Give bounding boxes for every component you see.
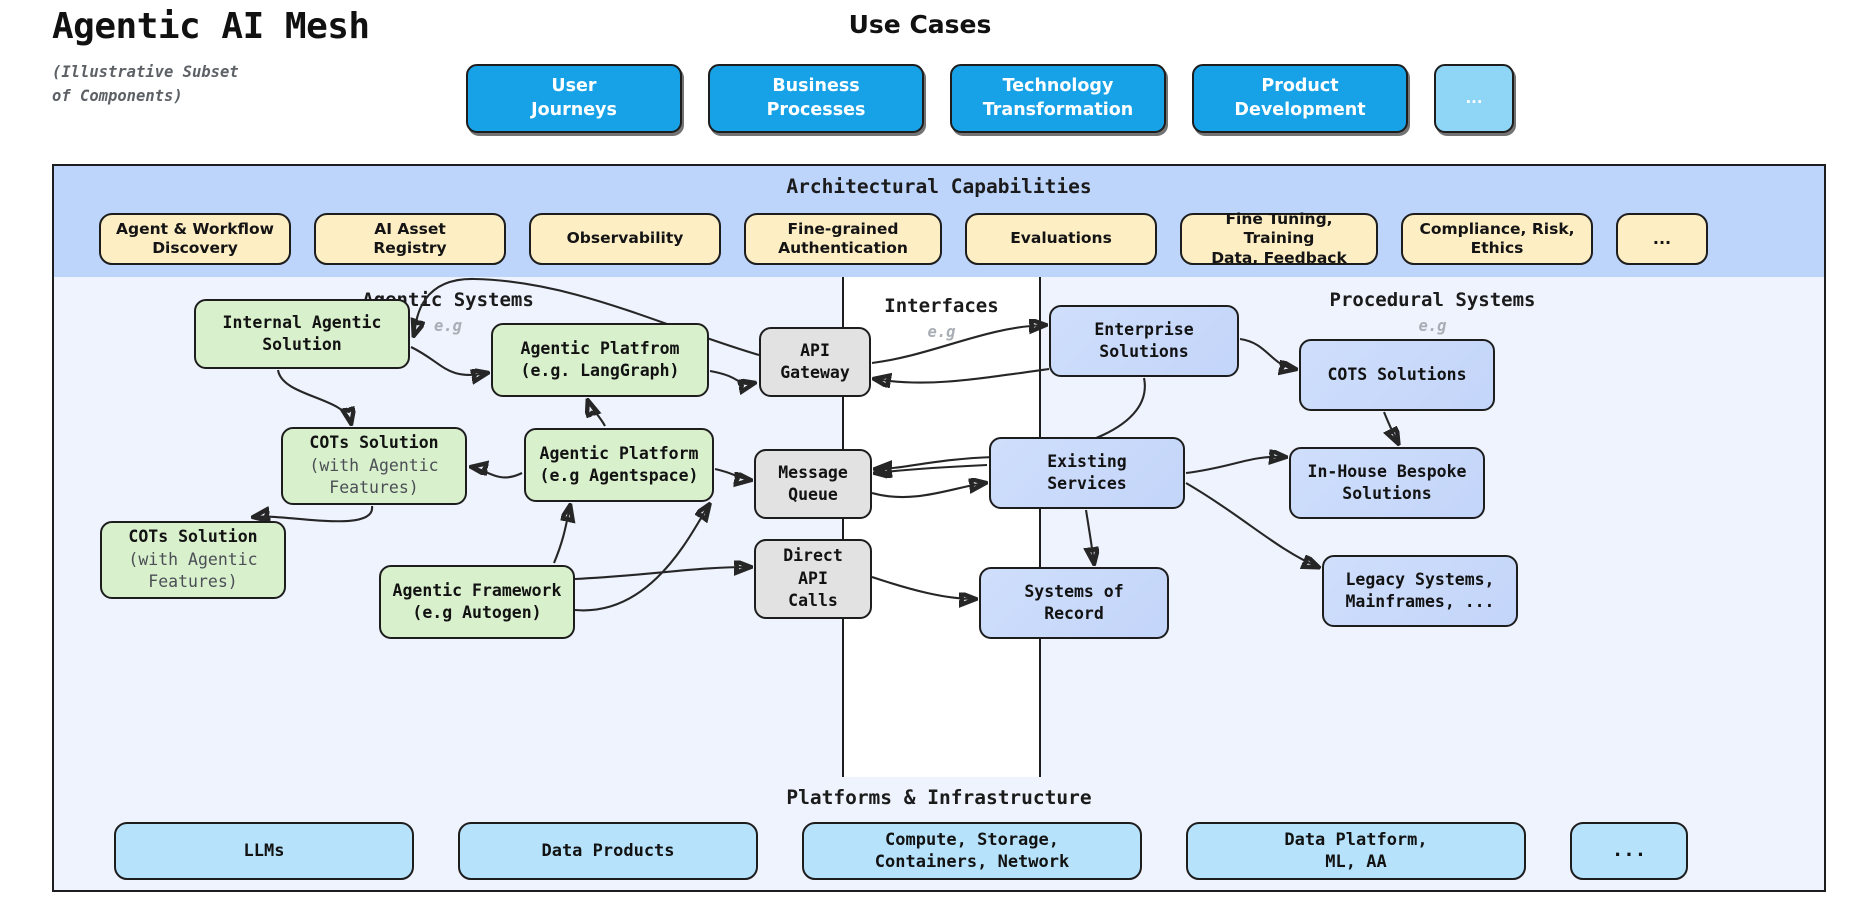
node-label-line1: Legacy Systems, <box>1345 569 1494 591</box>
capability-label-line1: AI Asset <box>374 220 446 238</box>
node-systems-of-record[interactable]: Systems of Record <box>979 567 1169 639</box>
node-legacy-systems[interactable]: Legacy Systems, Mainframes, ... <box>1322 555 1518 627</box>
node-label-line1: COTS Solutions <box>1327 364 1466 386</box>
page-subtitle: (Illustrative Subset of Components) <box>52 60 242 108</box>
platforms-infrastructure-band: Platforms & Infrastructure LLMs Data Pro… <box>52 777 1826 892</box>
interfaces-column-background <box>844 277 1039 777</box>
diagram-canvas: Agentic AI Mesh (Illustrative Subset of … <box>0 0 1854 904</box>
capability-label-line1: Agent & Workflow <box>116 220 274 238</box>
platform-data-products[interactable]: Data Products <box>458 822 758 880</box>
use-case-business-processes[interactable]: Business Processes <box>708 64 924 133</box>
use-case-label-line1: ... <box>1465 89 1482 109</box>
use-case-label-line1: Technology <box>1003 75 1114 98</box>
node-label-line2: Queue <box>788 484 838 506</box>
node-label-line1: Agentic Framework <box>393 580 562 602</box>
node-label-line2: Solutions <box>1099 341 1188 363</box>
use-case-label-line1: Product <box>1261 75 1338 98</box>
platform-label-line2: ML, AA <box>1325 852 1386 872</box>
node-label-sub: (with Agentic Features) <box>102 549 284 594</box>
node-cots-solutions[interactable]: COTS Solutions <box>1299 339 1495 411</box>
node-internal-agentic-solution[interactable]: Internal Agentic Solution <box>194 299 410 369</box>
use-case-label-line2: Processes <box>767 99 866 122</box>
node-label-line3: Calls <box>788 590 838 612</box>
capability-label-line1: Observability <box>567 229 684 248</box>
node-cots-solution-upper[interactable]: COTs Solution (with Agentic Features) <box>281 427 467 505</box>
node-label-line1: Agentic Platform <box>540 443 699 465</box>
platform-data-platform-ml-aa[interactable]: Data Platform, ML, AA <box>1186 822 1526 880</box>
node-label-line2: Solution <box>262 334 341 356</box>
capability-ai-asset-registry[interactable]: AI Asset Registry <box>314 213 506 265</box>
platform-more[interactable]: ... <box>1570 822 1688 880</box>
node-label-line1: Existing <box>1047 451 1126 473</box>
node-label-line1: In-House Bespoke <box>1308 461 1467 483</box>
column-eg-agentic-systems: e.g <box>54 317 842 335</box>
capability-label-line2: Ethics <box>1471 239 1524 257</box>
capability-label-line2: Authentication <box>778 239 908 257</box>
node-label-line2: (e.g Autogen) <box>412 602 541 624</box>
node-in-house-bespoke-solutions[interactable]: In-House Bespoke Solutions <box>1289 447 1485 519</box>
platform-llms[interactable]: LLMs <box>114 822 414 880</box>
architectural-capabilities-title: Architectural Capabilities <box>54 175 1824 198</box>
node-label-line1: Systems of <box>1024 581 1123 603</box>
systems-area: Agentic Systems e.g Interfaces e.g Proce… <box>52 277 1826 779</box>
capability-fine-tuning-training[interactable]: Fine Tuning, Training Data, Feedback <box>1180 213 1378 265</box>
use-case-label-line2: Transformation <box>983 99 1134 122</box>
node-label-line1: Internal Agentic <box>223 312 382 334</box>
use-case-label-line2: Journeys <box>531 99 617 122</box>
node-agentic-platform-agentspace[interactable]: Agentic Platform (e.g Agentspace) <box>524 428 714 502</box>
node-label-line1: Enterprise <box>1094 319 1193 341</box>
node-label-sub: (with Agentic Features) <box>283 455 465 500</box>
platform-label-line1: Data Platform, <box>1284 830 1427 850</box>
node-label-line2: Record <box>1044 603 1104 625</box>
capability-label-line1: ... <box>1653 229 1671 249</box>
node-agentic-framework-autogen[interactable]: Agentic Framework (e.g Autogen) <box>379 565 575 639</box>
use-case-more[interactable]: ... <box>1434 64 1514 133</box>
platform-label-line2: Containers, Network <box>875 852 1069 872</box>
node-label-line2: Solutions <box>1342 483 1431 505</box>
node-label-line1: Message <box>778 462 848 484</box>
use-cases-heading: Use Cases <box>760 10 1080 39</box>
node-cots-solution-lower[interactable]: COTs Solution (with Agentic Features) <box>100 521 286 599</box>
platforms-row: LLMs Data Products Compute, Storage, Con… <box>114 822 1688 880</box>
capability-fine-grained-authentication[interactable]: Fine-grained Authentication <box>744 213 942 265</box>
column-title-agentic-systems: Agentic Systems <box>54 289 842 311</box>
capability-observability[interactable]: Observability <box>529 213 721 265</box>
capability-label-line2: Data, Feedback <box>1211 249 1347 267</box>
node-label-line2: (e.g Agentspace) <box>540 465 699 487</box>
node-label-line2: (e.g. LangGraph) <box>521 360 680 382</box>
node-label-line1: Direct <box>783 545 843 567</box>
platform-compute-storage[interactable]: Compute, Storage, Containers, Network <box>802 822 1142 880</box>
node-message-queue[interactable]: Message Queue <box>754 449 872 519</box>
capability-evaluations[interactable]: Evaluations <box>965 213 1157 265</box>
capability-label-line2: Registry <box>373 239 446 257</box>
capability-label-line1: Fine Tuning, Training <box>1225 210 1332 247</box>
platform-label-line1: LLMs <box>244 840 285 862</box>
capability-compliance-risk-ethics[interactable]: Compliance, Risk, Ethics <box>1401 213 1593 265</box>
capability-label-line1: Fine-grained <box>787 220 898 238</box>
node-label-line1: API <box>800 340 830 362</box>
capability-label-line1: Compliance, Risk, <box>1419 220 1574 238</box>
use-cases-row: User Journeys Business Processes Technol… <box>466 64 1514 133</box>
column-title-interfaces: Interfaces <box>844 295 1039 317</box>
page-title: Agentic AI Mesh <box>52 6 370 47</box>
capability-agent-workflow-discovery[interactable]: Agent & Workflow Discovery <box>99 213 291 265</box>
platform-label-line1: ... <box>1612 838 1646 863</box>
node-label-line2: Gateway <box>780 362 850 384</box>
node-label-line2: Mainframes, ... <box>1345 591 1494 613</box>
node-existing-services[interactable]: Existing Services <box>989 437 1185 509</box>
capability-label-line1: Evaluations <box>1010 229 1112 248</box>
column-divider-right <box>1039 277 1041 777</box>
use-case-product-development[interactable]: Product Development <box>1192 64 1408 133</box>
use-case-label-line2: Development <box>1234 99 1365 122</box>
capability-more[interactable]: ... <box>1616 213 1708 265</box>
use-case-technology-transformation[interactable]: Technology Transformation <box>950 64 1166 133</box>
node-direct-api-calls[interactable]: Direct API Calls <box>754 539 872 619</box>
use-case-label-line1: Business <box>772 75 859 98</box>
platform-label-line1: Data Products <box>541 840 674 862</box>
node-label-line2: Services <box>1047 473 1126 495</box>
node-api-gateway[interactable]: API Gateway <box>759 327 871 397</box>
node-label-line1: COTs Solution <box>309 432 438 454</box>
node-label-line1: Agentic Platfrom <box>521 338 680 360</box>
use-case-label-line1: User <box>551 75 596 98</box>
column-eg-interfaces: e.g <box>844 323 1039 341</box>
node-label-line2: API <box>798 568 828 590</box>
platforms-infrastructure-title: Platforms & Infrastructure <box>54 786 1824 809</box>
node-agentic-platform-langgraph[interactable]: Agentic Platfrom (e.g. LangGraph) <box>491 323 709 397</box>
capability-label-line2: Discovery <box>152 239 238 257</box>
capabilities-row: Agent & Workflow Discovery AI Asset Regi… <box>99 213 1708 265</box>
node-label-line1: COTs Solution <box>128 526 257 548</box>
platform-label-line1: Compute, Storage, <box>885 830 1059 850</box>
node-enterprise-solutions[interactable]: Enterprise Solutions <box>1049 305 1239 377</box>
architectural-capabilities-band: Architectural Capabilities Agent & Workf… <box>52 164 1826 281</box>
use-case-user-journeys[interactable]: User Journeys <box>466 64 682 133</box>
